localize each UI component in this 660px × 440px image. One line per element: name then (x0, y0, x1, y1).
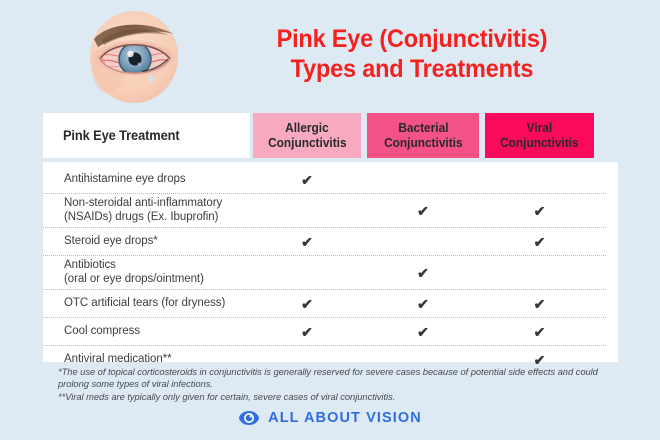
treatment-label: Antibiotics(oral or eye drops/ointment) (43, 259, 250, 286)
column-header-viral-line2: Conjunctivitis (500, 136, 579, 151)
treatment-label-line2: (NSAIDs) drugs (Ex. Ibuprofin) (64, 211, 250, 225)
cell-allergic (253, 256, 361, 289)
treatment-label-line2: (oral or eye drops/ointment) (64, 273, 250, 287)
cell-viral (485, 256, 594, 289)
table-header-row: Pink Eye Treatment Allergic Conjunctivit… (43, 113, 618, 158)
treatment-label-line1: Antiviral medication** (64, 353, 172, 365)
check-icon: ✔ (534, 204, 546, 218)
cell-bacterial: ✔ (367, 318, 479, 345)
check-icon: ✔ (417, 325, 429, 339)
page-title: Pink Eye (Conjunctivitis) Types and Trea… (212, 24, 612, 84)
table-row: Antihistamine eye drops✔ (43, 166, 606, 194)
column-header-allergic-line1: Allergic (285, 121, 329, 136)
cell-viral: ✔ (485, 290, 594, 317)
check-icon: ✔ (534, 297, 546, 311)
cell-bacterial (367, 166, 479, 193)
table-corner-cell: Pink Eye Treatment (43, 113, 250, 158)
check-icon: ✔ (417, 204, 429, 218)
cell-allergic: ✔ (253, 290, 361, 317)
treatment-label-line1: OTC artificial tears (for dryness) (64, 297, 225, 309)
column-header-viral-line1: Viral (527, 121, 553, 136)
table-row: Non-steroidal anti-inflammatory(NSAIDs) … (43, 194, 606, 228)
treatment-label: Antihistamine eye drops (43, 173, 250, 187)
treatment-label: Non-steroidal anti-inflammatory(NSAIDs) … (43, 197, 250, 224)
treatment-label-line1: Non-steroidal anti-inflammatory (64, 197, 222, 209)
cell-allergic (253, 194, 361, 227)
table-row: Steroid eye drops*✔✔ (43, 228, 606, 256)
check-icon: ✔ (417, 266, 429, 280)
column-header-bacterial: Bacterial Conjunctivitis (367, 113, 479, 158)
pink-eye-illustration (78, 9, 190, 105)
cell-viral: ✔ (485, 318, 594, 345)
check-icon: ✔ (534, 235, 546, 249)
cell-bacterial (367, 228, 479, 255)
cell-viral (485, 166, 594, 193)
cell-allergic: ✔ (253, 228, 361, 255)
column-header-allergic: Allergic Conjunctivitis (253, 113, 361, 158)
header-band: Pink Eye (Conjunctivitis) Types and Trea… (0, 0, 660, 108)
cell-bacterial: ✔ (367, 194, 479, 227)
treatment-label-line1: Antihistamine eye drops (64, 173, 186, 185)
treatment-label: OTC artificial tears (for dryness) (43, 297, 250, 311)
brand-logo[interactable]: ALL ABOUT VISION (0, 410, 660, 426)
title-line-2: Types and Treatments (224, 54, 600, 84)
footnote-2: **Viral meds are typically only given fo… (58, 391, 614, 403)
table-row: OTC artificial tears (for dryness)✔✔✔ (43, 290, 606, 318)
footnotes: *The use of topical corticosteroids in c… (58, 366, 614, 405)
cell-bacterial: ✔ (367, 256, 479, 289)
treatment-label-line1: Antibiotics (64, 259, 116, 271)
table-row: Cool compress✔✔✔ (43, 318, 606, 346)
treatment-label-line1: Steroid eye drops* (64, 235, 158, 247)
check-icon: ✔ (301, 173, 313, 187)
cell-allergic: ✔ (253, 166, 361, 193)
table-row: Antibiotics(oral or eye drops/ointment)✔ (43, 256, 606, 290)
check-icon: ✔ (534, 353, 546, 367)
check-icon: ✔ (417, 297, 429, 311)
treatment-label: Cool compress (43, 325, 250, 339)
treatment-label: Antiviral medication** (43, 353, 250, 367)
treatment-label: Steroid eye drops* (43, 235, 250, 249)
check-icon: ✔ (534, 325, 546, 339)
column-header-bacterial-line1: Bacterial (398, 121, 448, 136)
eye-icon (238, 410, 260, 426)
column-header-viral: Viral Conjunctivitis (485, 113, 594, 158)
check-icon: ✔ (301, 325, 313, 339)
row-header-label: Pink Eye Treatment (43, 128, 180, 143)
cell-viral: ✔ (485, 228, 594, 255)
column-header-bacterial-line2: Conjunctivitis (384, 136, 463, 151)
cell-allergic: ✔ (253, 318, 361, 345)
footnote-1: *The use of topical corticosteroids in c… (58, 366, 614, 390)
treatment-label-line1: Cool compress (64, 325, 140, 337)
column-header-allergic-line2: Conjunctivitis (268, 136, 347, 151)
cell-bacterial: ✔ (367, 290, 479, 317)
table-body: Antihistamine eye drops✔Non-steroidal an… (43, 162, 618, 362)
brand-logo-text: ALL ABOUT VISION (268, 410, 422, 426)
title-line-1: Pink Eye (Conjunctivitis) (224, 24, 600, 54)
check-icon: ✔ (301, 235, 313, 249)
cell-viral: ✔ (485, 194, 594, 227)
check-icon: ✔ (301, 297, 313, 311)
